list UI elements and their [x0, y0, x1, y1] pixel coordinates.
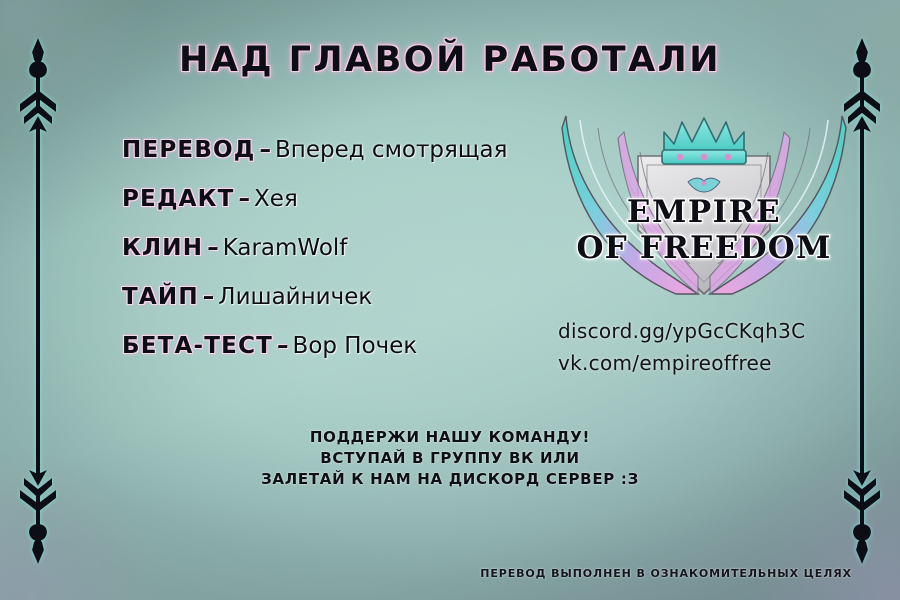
empire-of-freedom-logo: EMPIRE OF FREEDOM [548, 98, 860, 308]
logo-line-1: EMPIRE [627, 194, 781, 230]
credit-name: Вор Почек [293, 333, 418, 359]
credits-page: НАД ГЛАВОЙ РАБОТАЛИ ПЕРЕВОД–Вперед смотр… [0, 0, 900, 600]
call-to-action: ПОДДЕРЖИ НАШУ КОМАНДУ! ВСТУПАЙ В ГРУППУ … [0, 427, 900, 490]
credit-role: ПЕРЕВОД [122, 137, 256, 163]
credit-dash: – [203, 235, 223, 261]
credit-row: ТАЙП–Лишайничек [122, 273, 562, 322]
disclaimer-text: ПЕРЕВОД ВЫПОЛНЕН В ОЗНАКОМИТЕЛЬНЫХ ЦЕЛЯХ [480, 567, 852, 580]
credit-name: Лишайничек [218, 284, 372, 310]
credit-role: РЕДАКТ [122, 186, 235, 212]
credit-dash: – [235, 186, 255, 212]
discord-link[interactable]: discord.gg/ypGcCKqh3C [558, 315, 805, 347]
credit-dash: – [273, 333, 293, 359]
credit-name: Хея [254, 186, 298, 212]
credit-role: ТАЙП [122, 284, 199, 310]
credit-row: КЛИН–KaramWolf [122, 224, 562, 273]
page-title: НАД ГЛАВОЙ РАБОТАЛИ [0, 40, 900, 80]
cta-line: ЗАЛЕТАЙ К НАМ НА ДИСКОРД СЕРВЕР :З [0, 469, 900, 490]
credit-name: Вперед смотрящая [275, 137, 507, 163]
vk-link[interactable]: vk.com/empireoffree [558, 347, 805, 379]
cta-line: ПОДДЕРЖИ НАШУ КОМАНДУ! [0, 427, 900, 448]
credit-role: БЕТА-ТЕСТ [122, 333, 273, 359]
credit-dash: – [199, 284, 219, 310]
logo-line-2: OF FREEDOM [576, 230, 831, 266]
credit-dash: – [256, 137, 276, 163]
credit-role: КЛИН [122, 235, 203, 261]
crown-icon [662, 118, 746, 164]
cta-line: ВСТУПАЙ В ГРУППУ ВК ИЛИ [0, 448, 900, 469]
credits-list: ПЕРЕВОД–Вперед смотрящая РЕДАКТ–Хея КЛИН… [122, 126, 562, 371]
spear-ornament-left [9, 20, 67, 580]
credit-row: БЕТА-ТЕСТ–Вор Почек [122, 322, 562, 371]
credit-row: ПЕРЕВОД–Вперед смотрящая [122, 126, 562, 175]
credit-name: KaramWolf [223, 235, 348, 261]
credit-row: РЕДАКТ–Хея [122, 175, 562, 224]
social-links: discord.gg/ypGcCKqh3C vk.com/empireoffre… [558, 315, 805, 379]
